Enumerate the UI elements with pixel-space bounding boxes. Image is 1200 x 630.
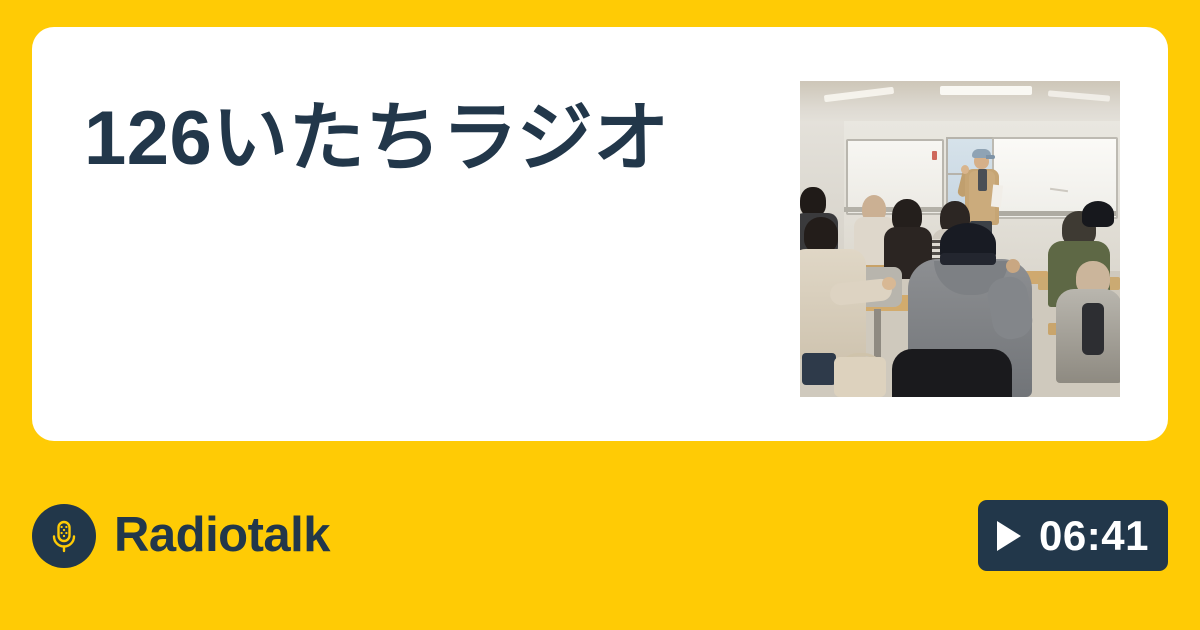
photo-instructor-hand (961, 165, 969, 174)
episode-card: 126いたちラジオ (32, 27, 1168, 441)
episode-thumbnail-column (800, 27, 1168, 397)
photo-student-hand (882, 277, 896, 290)
photo-instructor-shirt (978, 169, 987, 191)
photo-desk-leg (874, 309, 881, 361)
play-duration-badge[interactable]: 06:41 (978, 500, 1168, 571)
photo-wall-fixture (932, 151, 937, 160)
duration-label: 06:41 (1039, 515, 1149, 557)
photo-ceiling-light (940, 86, 1032, 95)
microphone-icon (32, 504, 96, 568)
play-icon (997, 521, 1021, 551)
card-footer: Radiotalk 06:41 (0, 441, 1200, 630)
photo-student-sweater (800, 249, 866, 359)
photo-bag (834, 357, 886, 397)
brand-name: Radiotalk (114, 511, 330, 560)
brand-lockup[interactable]: Radiotalk (32, 504, 330, 568)
photo-student-beanie (1082, 201, 1114, 227)
photo-student-head (804, 217, 838, 253)
photo-student-hand (1006, 259, 1020, 273)
episode-text-column: 126いたちラジオ (32, 27, 800, 193)
photo-student-leg (802, 353, 836, 385)
classroom-photo (800, 81, 1120, 397)
page-title: 126いたちラジオ (84, 85, 724, 193)
photo-student-beanie-brim (940, 253, 996, 265)
photo-foreground-jacket (892, 349, 1012, 397)
photo-student-jacket (1082, 303, 1104, 355)
radiotalk-share-card: 126いたちラジオ (0, 0, 1200, 630)
photo-instructor-cap-brim (986, 155, 995, 159)
